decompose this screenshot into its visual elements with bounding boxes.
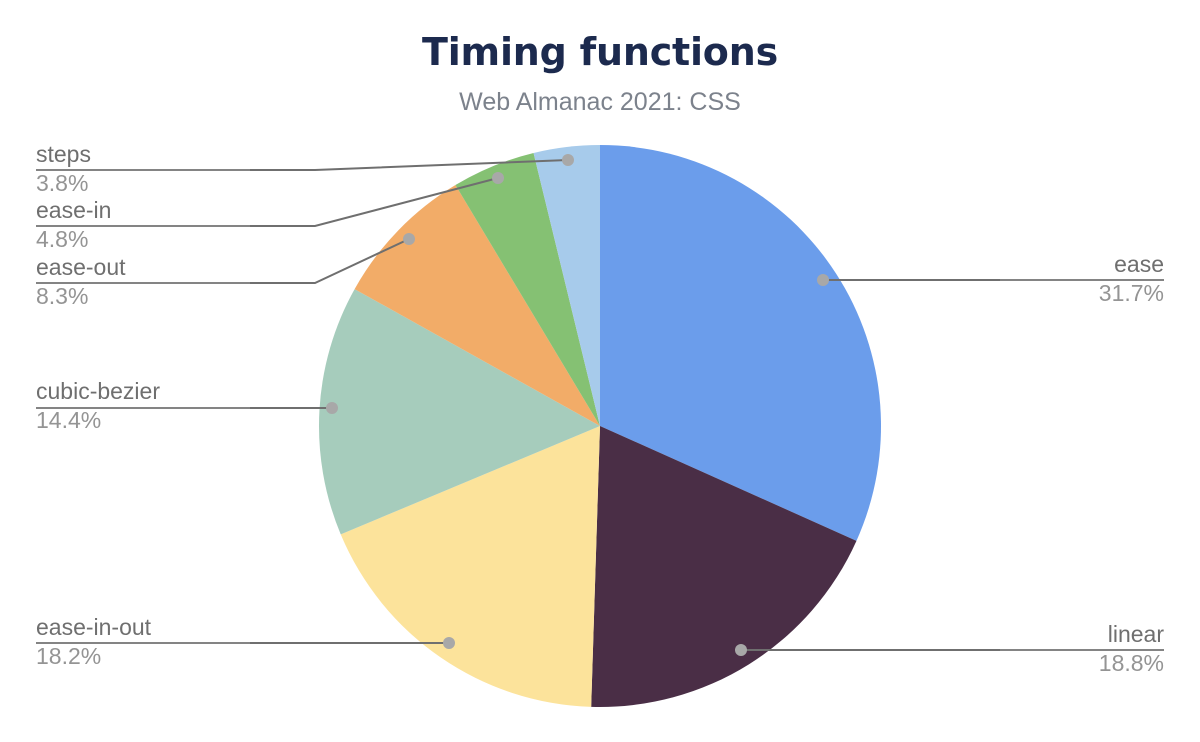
- leader-dot-ease-in: [492, 172, 504, 184]
- slice-label-ease: ease31.7%: [0, 250, 1164, 308]
- slice-label-steps: steps3.8%: [36, 140, 91, 198]
- slice-label-value-ease-out: 8.3%: [36, 281, 126, 311]
- slice-label-name-ease: ease: [0, 250, 1164, 278]
- slice-label-value-ease: 31.7%: [0, 278, 1164, 308]
- slice-label-ease-out: ease-out8.3%: [36, 253, 126, 311]
- pie-chart-figure: Timing functions Web Almanac 2021: CSS e…: [0, 0, 1200, 742]
- slice-label-cubic-bezier: cubic-bezier14.4%: [36, 377, 160, 435]
- leader-dot-cubic-bezier: [326, 402, 338, 414]
- slice-label-value-linear: 18.8%: [0, 648, 1164, 678]
- leader-dot-ease-out: [403, 233, 415, 245]
- slice-label-name-steps: steps: [36, 140, 91, 168]
- slice-label-value-ease-in: 4.8%: [36, 224, 111, 254]
- slice-label-name-linear: linear: [0, 620, 1164, 648]
- slice-label-name-cubic-bezier: cubic-bezier: [36, 377, 160, 405]
- slice-label-value-steps: 3.8%: [36, 168, 91, 198]
- leader-dot-steps: [562, 154, 574, 166]
- slice-label-value-cubic-bezier: 14.4%: [36, 405, 160, 435]
- slice-label-ease-in-out: ease-in-out18.2%: [36, 613, 151, 671]
- slice-label-name-ease-out: ease-out: [36, 253, 126, 281]
- slice-label-name-ease-in: ease-in: [36, 196, 111, 224]
- slice-label-ease-in: ease-in4.8%: [36, 196, 111, 254]
- slice-label-name-ease-in-out: ease-in-out: [36, 613, 151, 641]
- slice-label-linear: linear18.8%: [0, 620, 1164, 678]
- slice-label-value-ease-in-out: 18.2%: [36, 641, 151, 671]
